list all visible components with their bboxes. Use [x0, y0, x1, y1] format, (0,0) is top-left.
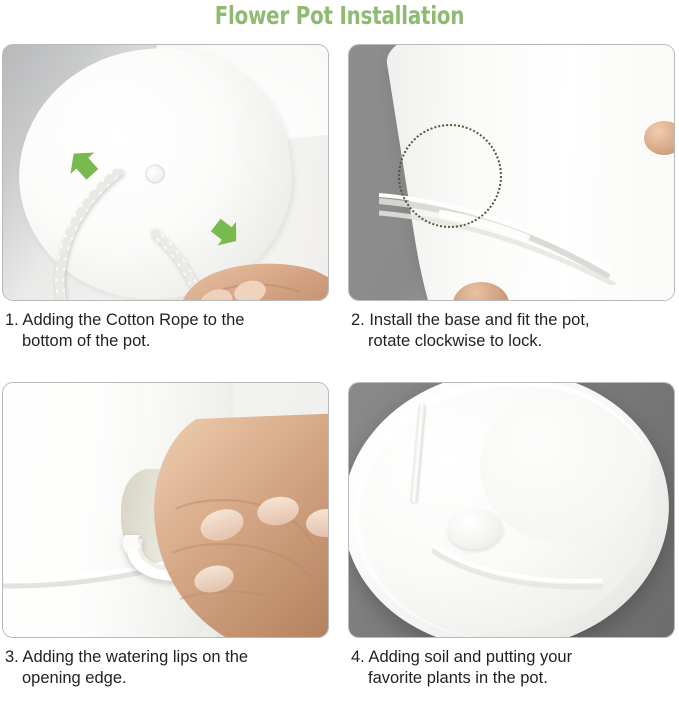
step-2-caption: 2. Install the base and fit the pot, rot…: [348, 310, 675, 352]
step-1-caption-line1: 1. Adding the Cotton Rope to the: [5, 311, 244, 329]
step-1-photo: [2, 44, 329, 301]
step-4-caption-line2: favorite plants in the pot.: [351, 668, 675, 689]
step-3-caption: 3. Adding the watering lips on the openi…: [2, 647, 329, 689]
step-3-caption-line1: 3. Adding the watering lips on the: [5, 648, 248, 666]
step-3: 3. Adding the watering lips on the openi…: [2, 382, 329, 701]
step-4-caption-line1: 4. Adding soil and putting your: [351, 648, 572, 666]
step-1: 1. Adding the Cotton Rope to the bottom …: [2, 44, 329, 369]
step-3-photo: [2, 382, 329, 638]
step-4: 4. Adding soil and putting your favorite…: [348, 382, 675, 701]
step-1-caption-line2: bottom of the pot.: [5, 331, 329, 352]
pot-interior: [348, 382, 675, 638]
step-2-caption-line1: 2. Install the base and fit the pot,: [351, 311, 590, 329]
step-2: 2. Install the base and fit the pot, rot…: [348, 44, 675, 369]
step-3-caption-line2: opening edge.: [5, 668, 329, 689]
dotted-highlight-circle: [398, 124, 502, 228]
step-2-photo: [348, 44, 675, 301]
step-4-photo: [348, 382, 675, 638]
step-1-caption: 1. Adding the Cotton Rope to the bottom …: [2, 310, 329, 352]
hand: [136, 413, 329, 638]
step-4-caption: 4. Adding soil and putting your favorite…: [348, 647, 675, 689]
instruction-sheet: Flower Pot Installation: [0, 0, 679, 701]
hand: [154, 190, 329, 301]
step-2-caption-line2: rotate clockwise to lock.: [351, 331, 675, 352]
page-title: Flower Pot Installation: [41, 1, 639, 30]
